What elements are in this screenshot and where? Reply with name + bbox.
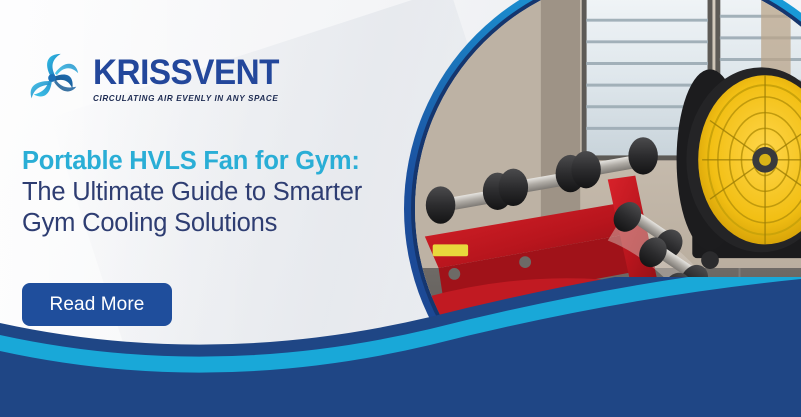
- promo-banner: KRISSVENT CIRCULATING AIR EVENLY IN ANY …: [0, 0, 801, 417]
- brand-logo[interactable]: KRISSVENT CIRCULATING AIR EVENLY IN ANY …: [22, 48, 289, 110]
- headline-line-1: Portable HVLS Fan for Gym:: [22, 146, 412, 177]
- headline-line-2: The Ultimate Guide to Smarter: [22, 177, 412, 208]
- page-title: Portable HVLS Fan for Gym: The Ultimate …: [22, 146, 412, 239]
- brand-tagline: CIRCULATING AIR EVENLY IN ANY SPACE: [93, 94, 287, 103]
- airflow-swirl-icon: [22, 48, 84, 110]
- read-more-button[interactable]: Read More: [22, 283, 172, 326]
- headline-line-3: Gym Cooling Solutions: [22, 208, 412, 239]
- brand-name: KRISSVENT: [93, 55, 279, 90]
- brand-text: KRISSVENT CIRCULATING AIR EVENLY IN ANY …: [93, 55, 289, 103]
